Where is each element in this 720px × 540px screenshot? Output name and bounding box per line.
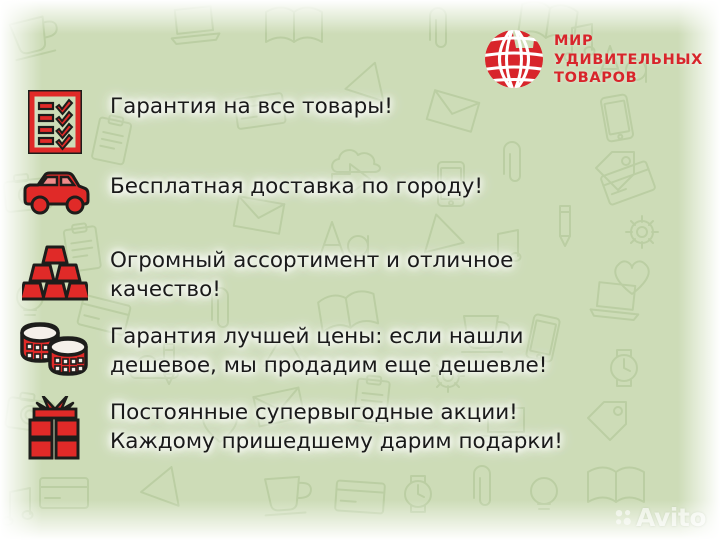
feature-text: Огромный ассортимент и отличное качество… [110,242,650,304]
feature-item: Гарантия на все товары! [0,88,650,154]
avito-dots-icon [615,509,632,526]
feature-text: Гарантия на все товары! [110,88,650,121]
avito-wordmark: Avito [636,505,706,530]
feature-item: Огромный ассортимент и отличное качество… [0,242,650,304]
feature-item: Постоянные супервыгодные акции! Каждому … [0,394,650,460]
feature-text: Постоянные супервыгодные акции! Каждому … [110,394,650,456]
gold-bars-icon [22,244,88,302]
feature-line: Бесплатная доставка по городу! [110,172,650,201]
gift-icon [25,396,85,460]
feature-line: дешевое, мы продадим еще дешевле! [110,351,650,380]
brand-logo: МИР УДИВИТЕЛЬНЫХ ТОВАРОВ [483,28,703,90]
brand-line-1: МИР [554,32,703,51]
feature-item: Гарантия лучшей цены: если нашли дешевое… [0,318,650,380]
feature-icon [0,318,110,378]
car-icon [19,170,91,216]
checklist-icon [28,90,82,154]
feature-icon [0,88,110,154]
feature-line: Огромный ассортимент и отличное [110,246,650,275]
feature-line: Постоянные супервыгодные акции! [110,398,650,427]
avito-watermark: Avito [615,505,706,530]
feature-list: Гарантия на все товары! Бесплатная доста… [0,88,650,474]
feature-line: Каждому пришедшему дарим подарки! [110,427,650,456]
brand-line-2: УДИВИТЕЛЬНЫХ [554,51,703,70]
feature-text: Бесплатная доставка по городу! [110,168,650,201]
feature-icon [0,168,110,216]
feature-line: Гарантия на все товары! [110,92,650,121]
brand-line-3: ТОВАРОВ [554,69,703,88]
feature-line: качество! [110,275,650,304]
globe-icon [483,28,545,90]
feature-item: Бесплатная доставка по городу! [0,168,650,228]
feature-line: Гарантия лучшей цены: если нашли [110,322,650,351]
feature-icon [0,242,110,302]
promo-poster: МИР УДИВИТЕЛЬНЫХ ТОВАРОВ [0,0,720,540]
feature-icon [0,394,110,460]
brand-name: МИР УДИВИТЕЛЬНЫХ ТОВАРОВ [554,28,703,88]
money-rolls-icon [18,320,92,378]
feature-text: Гарантия лучшей цены: если нашли дешевое… [110,318,650,380]
